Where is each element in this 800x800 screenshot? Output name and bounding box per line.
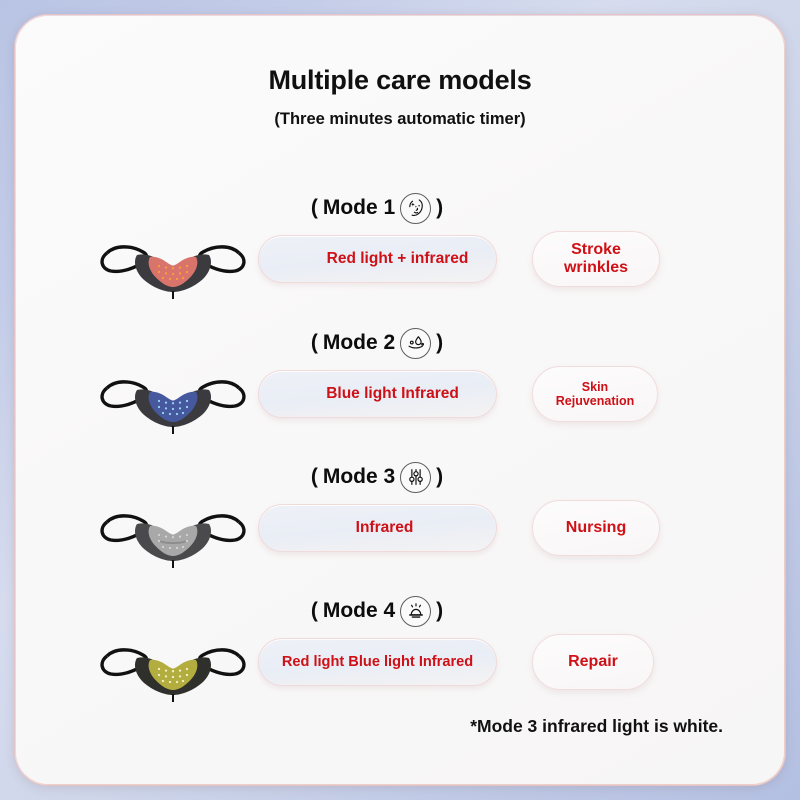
badge-label: Skin Rejuvenation bbox=[556, 380, 635, 408]
page-subtitle: (Three minutes automatic timer) bbox=[15, 110, 785, 129]
mode-caption: ( Mode 2 ) bbox=[247, 322, 507, 364]
benefit-badge[interactable]: Nursing bbox=[532, 500, 660, 556]
mask-illustration-mode-3 bbox=[93, 494, 253, 570]
pill-label: Red light Blue light Infrared bbox=[282, 654, 473, 670]
paren-open: ( bbox=[311, 196, 318, 220]
pill-label: Infrared bbox=[342, 519, 414, 537]
mode-row: ( Mode 2 ) bbox=[15, 322, 785, 454]
mask-illustration-mode-2 bbox=[93, 360, 253, 436]
badge-label: Repair bbox=[568, 653, 618, 671]
paren-close: ) bbox=[436, 331, 443, 355]
badge-label: Nursing bbox=[566, 519, 626, 537]
footnote: *Mode 3 infrared light is white. bbox=[470, 716, 723, 737]
mode-pill[interactable]: Infrared bbox=[258, 504, 497, 552]
badge-label: Stroke wrinkles bbox=[564, 241, 628, 277]
mode-label: Mode 2 bbox=[323, 331, 395, 355]
benefit-badge[interactable]: Repair bbox=[532, 634, 654, 690]
mode-row: ( Mode 3 ) bbox=[15, 456, 785, 588]
pill-label: Red light + infrared bbox=[287, 250, 469, 268]
mode-caption: ( Mode 3 ) bbox=[247, 456, 507, 498]
mode-label: Mode 1 bbox=[323, 196, 395, 220]
mode-row: ( Mode 4 ) bbox=[15, 590, 785, 722]
lamp-icon bbox=[400, 596, 431, 627]
benefit-badge[interactable]: Stroke wrinkles bbox=[532, 231, 660, 287]
benefit-badge[interactable]: Skin Rejuvenation bbox=[532, 366, 658, 422]
paren-close: ) bbox=[436, 599, 443, 623]
page-title: Multiple care models bbox=[15, 65, 785, 96]
info-card: Multiple care models (Three minutes auto… bbox=[14, 14, 786, 786]
header: Multiple care models (Three minutes auto… bbox=[15, 65, 785, 129]
mode-row: ( Mode 1 bbox=[15, 187, 785, 319]
mode-label: Mode 3 bbox=[323, 465, 395, 489]
face-sparkle-icon bbox=[400, 193, 431, 224]
water-drop-icon bbox=[400, 328, 431, 359]
pill-label: Blue light Infrared bbox=[296, 385, 459, 403]
paren-close: ) bbox=[436, 196, 443, 220]
mode-caption: ( Mode 4 ) bbox=[247, 590, 507, 632]
paren-open: ( bbox=[311, 599, 318, 623]
sliders-icon bbox=[400, 462, 431, 493]
paren-open: ( bbox=[311, 465, 318, 489]
mode-pill[interactable]: Red light Blue light Infrared bbox=[258, 638, 497, 686]
mode-label: Mode 4 bbox=[323, 599, 395, 623]
paren-open: ( bbox=[311, 331, 318, 355]
mask-illustration-mode-1 bbox=[93, 225, 253, 301]
mask-illustration-mode-4 bbox=[93, 628, 253, 704]
mode-pill[interactable]: Red light + infrared bbox=[258, 235, 497, 283]
mode-pill[interactable]: Blue light Infrared bbox=[258, 370, 497, 418]
paren-close: ) bbox=[436, 465, 443, 489]
mode-caption: ( Mode 1 bbox=[247, 187, 507, 229]
